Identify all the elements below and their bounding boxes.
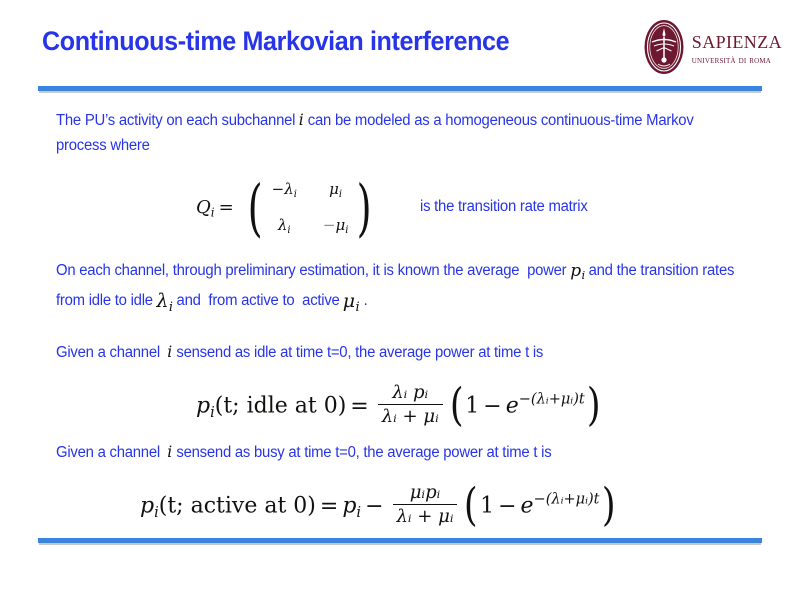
- matrix-cell-11-sub: i: [294, 189, 297, 200]
- matrix-cell-21-symbol: λ: [278, 216, 288, 234]
- matrix-caption: is the transition rate matrix: [420, 198, 588, 216]
- symbol-p-i: pi: [570, 259, 585, 288]
- matrix-cell-21: λi: [272, 216, 297, 236]
- paragraph-idle-case: Given a channel i sensend as idle at tim…: [56, 340, 728, 365]
- sapienza-logo: Sapienza Università di Roma: [643, 17, 782, 77]
- p3-text-a: Given a channel: [56, 344, 168, 361]
- active-one: 1: [480, 494, 494, 519]
- equation-transition-matrix: Qi= ( −λi μi λi −μi ): [196, 180, 377, 236]
- symbol-lambda-i: λi: [156, 289, 173, 320]
- p2-text-a: On each channel, through preliminary est…: [56, 262, 570, 279]
- p2-text-c: and from active to active: [173, 292, 344, 309]
- sapienza-seal-icon: [643, 18, 685, 76]
- logo-name: Sapienza: [692, 28, 782, 53]
- p4-text-a: Given a channel: [56, 444, 168, 461]
- equation-active-power: pi(t; active at 0)=pi−μᵢpᵢλᵢ + μᵢ(1−e−(λ…: [140, 480, 617, 533]
- symbol-i-idle: i: [168, 340, 173, 365]
- idle-exp-power: −(λᵢ+μᵢ)t: [519, 392, 585, 408]
- idle-fraction-numerator: λᵢ pᵢ: [388, 383, 432, 404]
- matrix-equals: =: [215, 197, 238, 218]
- matrix-cell-11: −λi: [272, 180, 297, 200]
- idle-paren-right: ): [587, 378, 601, 431]
- active-paren-right: ): [601, 478, 615, 531]
- idle-lhs: p: [196, 394, 210, 419]
- matrix-cell-22-sign: −: [323, 216, 336, 234]
- matrix-cell-12-sub: i: [339, 189, 342, 200]
- symbol-mu-i: μi: [343, 289, 360, 320]
- active-fraction-numerator: μᵢpᵢ: [406, 483, 445, 504]
- active-fraction: μᵢpᵢλᵢ + μᵢ: [393, 483, 458, 527]
- idle-fraction-denominator: λᵢ + μᵢ: [378, 404, 443, 427]
- active-equals: =: [316, 494, 342, 519]
- matrix-grid: −λi μi λi −μi: [268, 180, 353, 236]
- logo-wordmark: Sapienza Università di Roma: [692, 28, 782, 67]
- symbol-i-busy: i: [168, 440, 173, 465]
- idle-one: 1: [465, 394, 479, 419]
- symbol-p: p: [570, 261, 581, 281]
- matrix-paren-left: (: [248, 184, 263, 232]
- active-lhs: p: [140, 494, 154, 519]
- active-exp-power: −(λᵢ+μᵢ)t: [534, 492, 600, 508]
- matrix-cell-12-symbol: μ: [329, 180, 339, 198]
- matrix-cell-22-sub: i: [345, 225, 348, 236]
- idle-minus: −: [479, 394, 505, 419]
- active-minus: −: [494, 494, 520, 519]
- matrix-lhs-symbol: Q: [196, 197, 211, 218]
- symbol-p-sub: i: [581, 268, 585, 282]
- p2-text-d: .: [360, 292, 368, 309]
- symbol-lambda-sub: i: [169, 300, 173, 315]
- idle-paren-left: (: [450, 378, 464, 431]
- paragraph-busy-case: Given a channel i sensend as busy at tim…: [56, 440, 728, 465]
- divider-bottom: [38, 538, 762, 543]
- active-minus-main: −: [361, 494, 387, 519]
- idle-args: (t; idle at 0): [215, 394, 347, 419]
- matrix-cell-22: −μi: [323, 216, 349, 236]
- idle-fraction: λᵢ pᵢλᵢ + μᵢ: [378, 383, 443, 427]
- active-args: (t; active at 0): [159, 494, 316, 519]
- matrix-cell-11-sign: −: [272, 180, 285, 198]
- idle-exp-base: e: [506, 394, 519, 419]
- symbol-i: i: [299, 108, 304, 133]
- idle-equals: =: [346, 394, 372, 419]
- matrix-cell-12: μi: [323, 180, 349, 200]
- active-exp-base: e: [521, 494, 534, 519]
- p4-text-b: sensend as busy at time t=0, the average…: [173, 444, 552, 461]
- matrix-cell-21-sub: i: [287, 225, 290, 236]
- page-title: Continuous-time Markovian interference: [42, 26, 600, 57]
- symbol-mu-sub: i: [356, 300, 360, 315]
- matrix-lhs-subscript: i: [211, 206, 215, 220]
- p1-text-a: The PU’s activity on each subchannel: [56, 112, 299, 129]
- p3-text-b: sensend as idle at time t=0, the average…: [173, 344, 544, 361]
- active-first-term: p: [342, 494, 356, 519]
- matrix-cell-11-symbol: λ: [284, 180, 294, 198]
- matrix-cell-22-symbol: μ: [335, 216, 345, 234]
- active-fraction-denominator: λᵢ + μᵢ: [393, 504, 458, 527]
- matrix-paren-right: ): [357, 184, 372, 232]
- equation-idle-power: pi(t; idle at 0)=λᵢ pᵢλᵢ + μᵢ(1−e−(λᵢ+μᵢ…: [196, 380, 602, 433]
- slide-canvas: Continuous-time Markovian interference S…: [0, 0, 800, 599]
- paragraph-channel-estimation: On each channel, through preliminary est…: [56, 258, 747, 320]
- active-paren-left: (: [464, 478, 478, 531]
- symbol-lambda: λ: [156, 290, 168, 312]
- symbol-mu: μ: [343, 290, 355, 312]
- paragraph-pu-activity: The PU’s activity on each subchannel i c…: [56, 108, 728, 158]
- matrix-body: ( −λi μi λi −μi ): [243, 180, 376, 236]
- divider-top: [38, 86, 762, 91]
- logo-subtitle: Università di Roma: [692, 56, 782, 67]
